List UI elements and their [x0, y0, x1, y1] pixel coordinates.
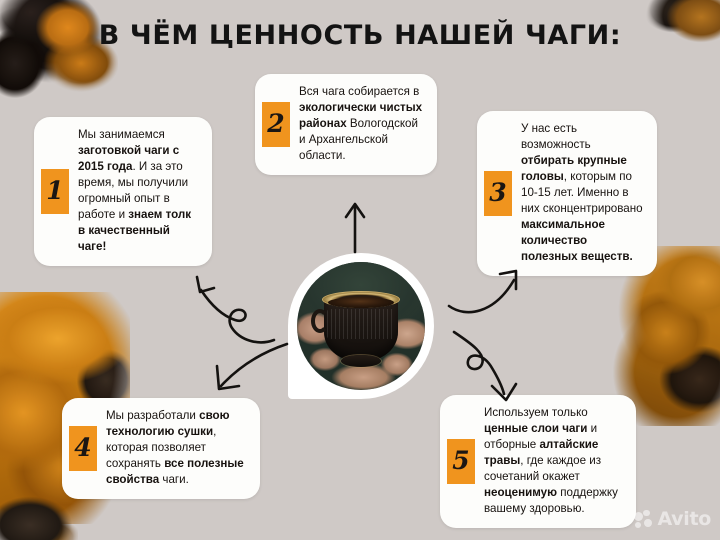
cup-ornament [327, 309, 395, 339]
info-card-5: 5 Используем только ценные слои чаги и о… [440, 395, 636, 528]
card-text-4: Мы разработали свою технологию сушки, ко… [97, 398, 260, 499]
card-text-1: Мы занимаемся заготовкой чаги с 2015 год… [69, 117, 212, 266]
tea-surface [328, 297, 394, 308]
cup-foot [341, 355, 381, 367]
card-number-badge-5: 5 [447, 439, 475, 484]
cup-handle [311, 309, 329, 333]
cup-photo [297, 262, 425, 390]
info-card-1: 1 Мы занимаемся заготовкой чаги с 2015 г… [34, 117, 212, 266]
card-number-badge-3: 3 [484, 171, 512, 216]
card-number-badge-2: 2 [262, 102, 290, 147]
arrow-to-card-2-icon [344, 200, 366, 254]
avito-logo-icon [634, 510, 653, 529]
card-text-2: Вся чага собирается в экологически чисты… [290, 74, 437, 175]
info-card-3: 3 У нас есть возможность отбирать крупны… [477, 111, 657, 276]
chaga-mushroom-image-bottom-left [0, 494, 78, 540]
infographic-canvas: В ЧЁМ ЦЕННОСТЬ НАШЕЙ ЧАГИ: 1 Мы занимаем… [0, 0, 720, 540]
chaga-mushroom-image-top-left [0, 0, 118, 112]
arrow-to-card-4-icon [205, 336, 291, 398]
card-number-badge-4: 4 [69, 426, 97, 471]
card-number-badge-1: 1 [41, 169, 69, 214]
info-card-4: 4 Мы разработали свою технологию сушки, … [62, 398, 260, 499]
avito-label: Avito [657, 508, 711, 530]
ceramic-cup [324, 295, 398, 361]
avito-watermark: Avito [634, 508, 711, 530]
arrow-to-card-1-icon [192, 268, 278, 348]
center-photo [288, 253, 434, 399]
page-title: В ЧЁМ ЦЕННОСТЬ НАШЕЙ ЧАГИ: [0, 20, 720, 51]
card-text-5: Используем только ценные слои чаги и отб… [475, 395, 636, 528]
card-text-3: У нас есть возможность отбирать крупные … [512, 111, 657, 276]
info-card-2: 2 Вся чага собирается в экологически чис… [255, 74, 437, 175]
